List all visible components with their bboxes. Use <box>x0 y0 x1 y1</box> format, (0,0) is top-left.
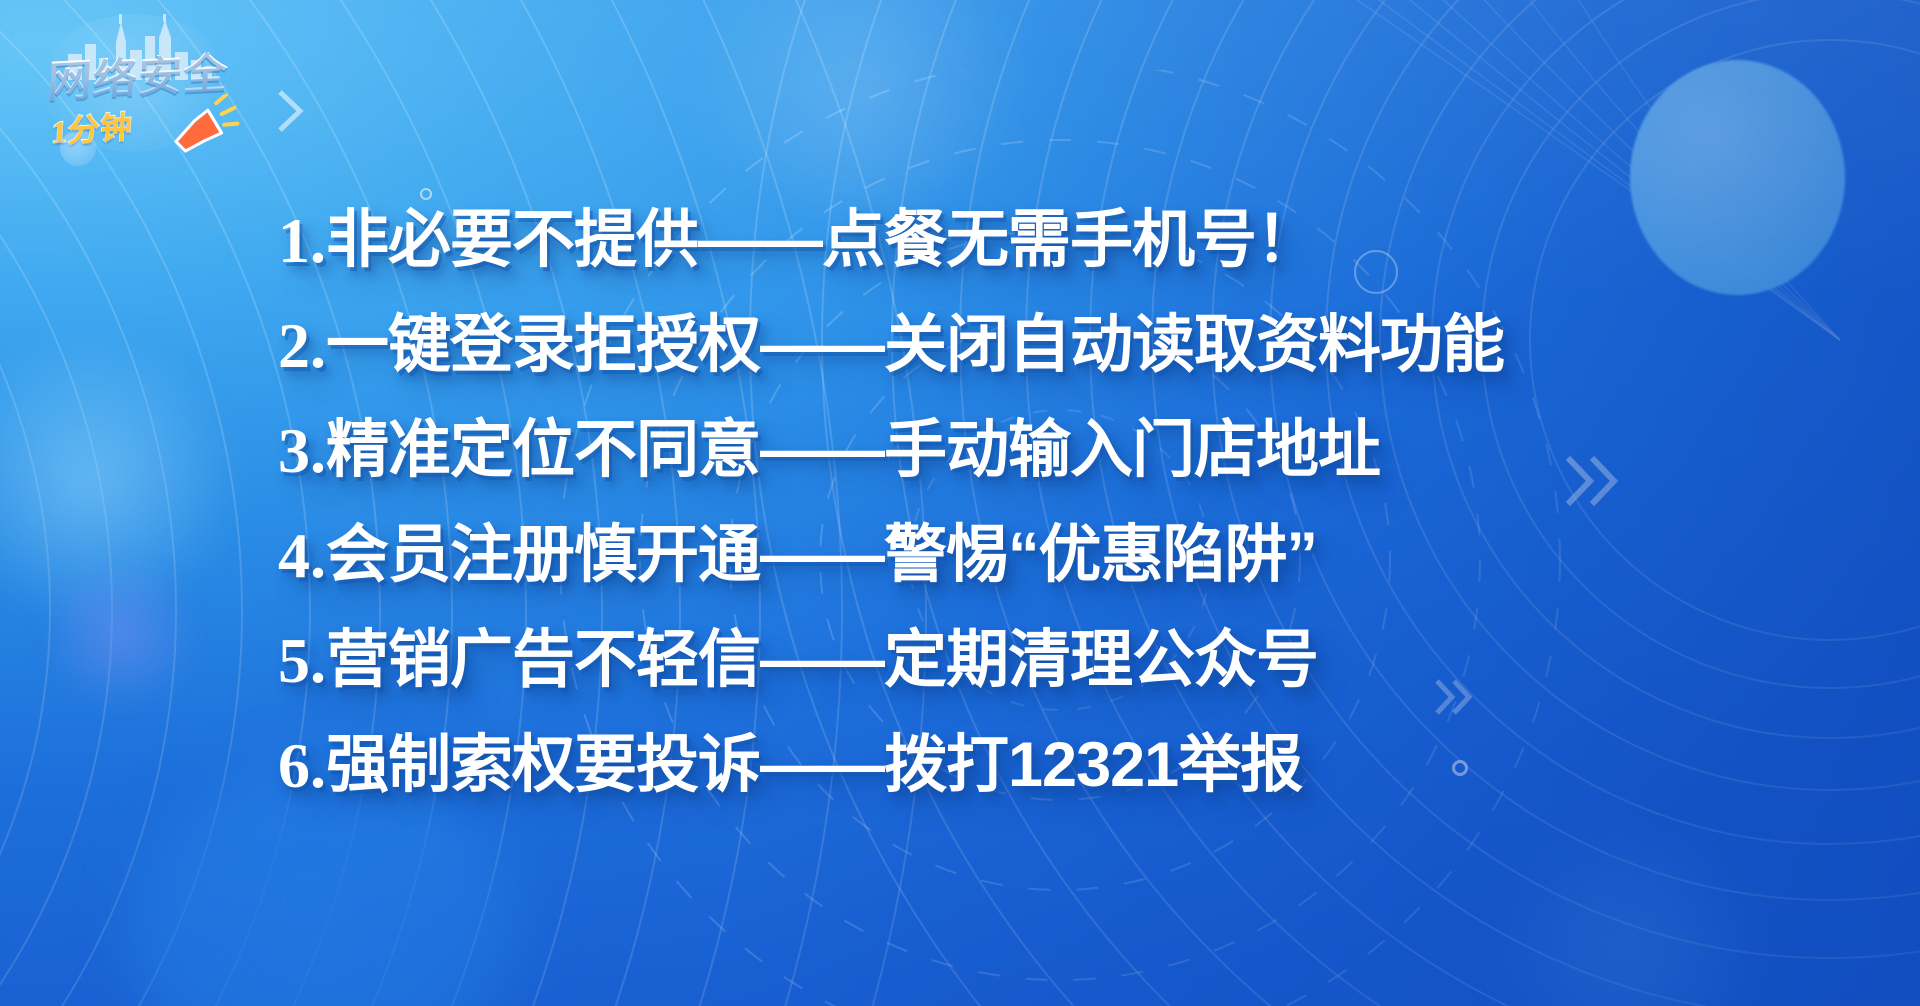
list-item: 3. 精准定位不同意——手动输入门店地址 <box>0 398 1920 503</box>
tips-list: 1. 非必要不提供——点餐无需手机号！ 2. 一键登录拒授权——关闭自动读取资料… <box>0 188 1920 818</box>
tip-text: 营销广告不轻信——定期清理公众号 <box>326 629 1318 692</box>
tip-number: 1. <box>278 209 326 273</box>
tip-number: 3. <box>278 419 326 483</box>
tip-text: 非必要不提供——点餐无需手机号！ <box>326 209 1318 272</box>
tip-text: 一键登录拒授权——关闭自动读取资料功能 <box>326 314 1504 377</box>
list-item: 6. 强制索权要投诉——拨打12321举报 <box>0 713 1920 818</box>
list-item: 4. 会员注册慎开通——警惕“优惠陷阱” <box>0 503 1920 608</box>
tip-text: 精准定位不同意——手动输入门店地址 <box>326 419 1380 482</box>
broadcast-graphic: 网络安全 1分钟 1. 非必要不提供——点餐无需手机号！ 2. 一键登录拒授权—… <box>0 0 1920 1006</box>
tip-text: 会员注册慎开通——警惕“优惠陷阱” <box>326 524 1317 587</box>
tip-number: 5. <box>278 629 326 693</box>
chevron-right-icon <box>276 88 310 134</box>
tip-number: 4. <box>278 524 326 588</box>
tip-number: 2. <box>278 314 326 378</box>
list-item: 5. 营销广告不轻信——定期清理公众号 <box>0 608 1920 713</box>
background-glow-bottom-right <box>1480 820 1780 1006</box>
tip-text: 强制索权要投诉——拨打12321举报 <box>326 734 1302 797</box>
program-logo: 网络安全 1分钟 <box>12 8 262 168</box>
list-item: 2. 一键登录拒授权——关闭自动读取资料功能 <box>0 293 1920 398</box>
list-item: 1. 非必要不提供——点餐无需手机号！ <box>0 188 1920 293</box>
tip-number: 6. <box>278 734 326 798</box>
background-glow-top <box>690 0 1030 210</box>
logo-subtitle: 1分钟 <box>51 101 134 152</box>
